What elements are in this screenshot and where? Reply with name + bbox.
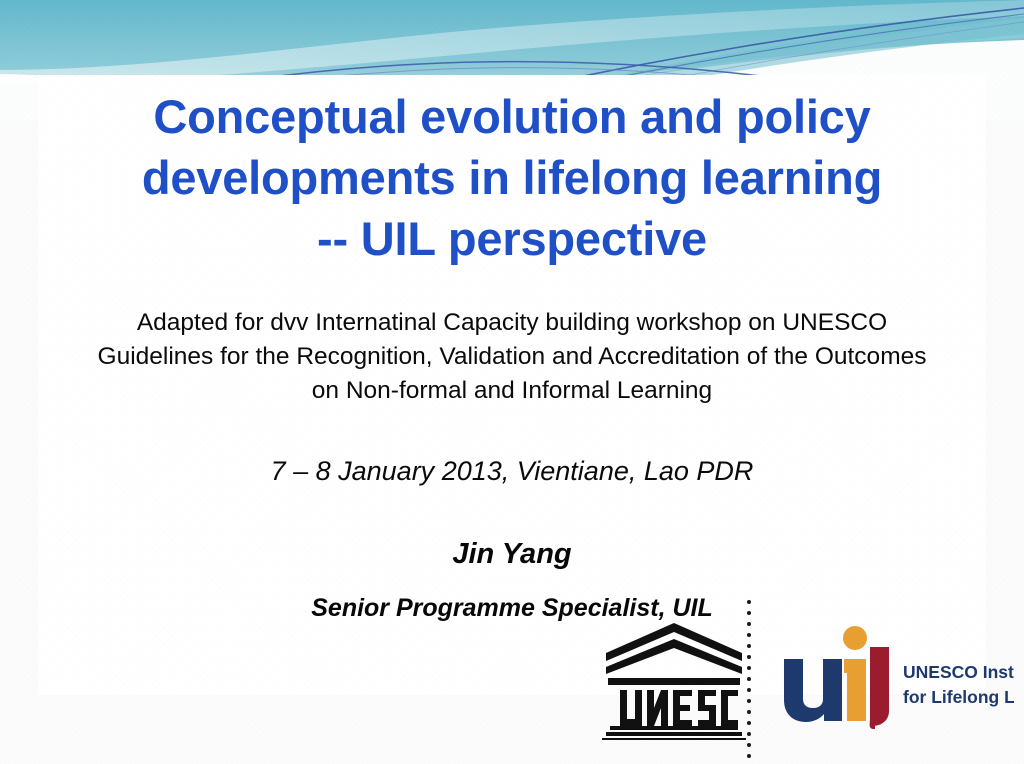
subtitle-line-2: Guidelines for the Recognition, Validati… [22, 340, 1002, 374]
uil-name-line-1: UNESCO Institute [903, 662, 1014, 682]
title-line-1: Conceptual evolution and policy [0, 86, 1024, 147]
dotted-divider [747, 600, 751, 764]
slide-subtitle: Adapted for dvv Internatinal Capacity bu… [22, 306, 1002, 408]
slide-title: Conceptual evolution and policy developm… [0, 86, 1024, 269]
uil-letter-l [870, 647, 889, 729]
title-line-2: developments in lifelong learning [0, 147, 1024, 208]
event-date-location: 7 – 8 January 2013, Vientiane, Lao PDR [0, 454, 1024, 488]
presenter-name: Jin Yang [0, 536, 1024, 572]
presentation-slide: Conceptual evolution and policy developm… [0, 0, 1024, 764]
uil-name-line-2: for Lifelong Learning [903, 687, 1014, 707]
title-line-3: -- UIL perspective [0, 208, 1024, 269]
uil-letter-u [784, 659, 842, 722]
logo-area: UNESCO Institute for Lifelong Learning [592, 592, 1024, 764]
subtitle-line-3: on Non-formal and Informal Learning [22, 374, 1002, 408]
uil-letter-i [843, 626, 867, 721]
uil-logo: UNESCO Institute for Lifelong Learning [778, 625, 1014, 729]
unesco-logo [602, 620, 746, 740]
subtitle-line-1: Adapted for dvv Internatinal Capacity bu… [22, 306, 1002, 340]
